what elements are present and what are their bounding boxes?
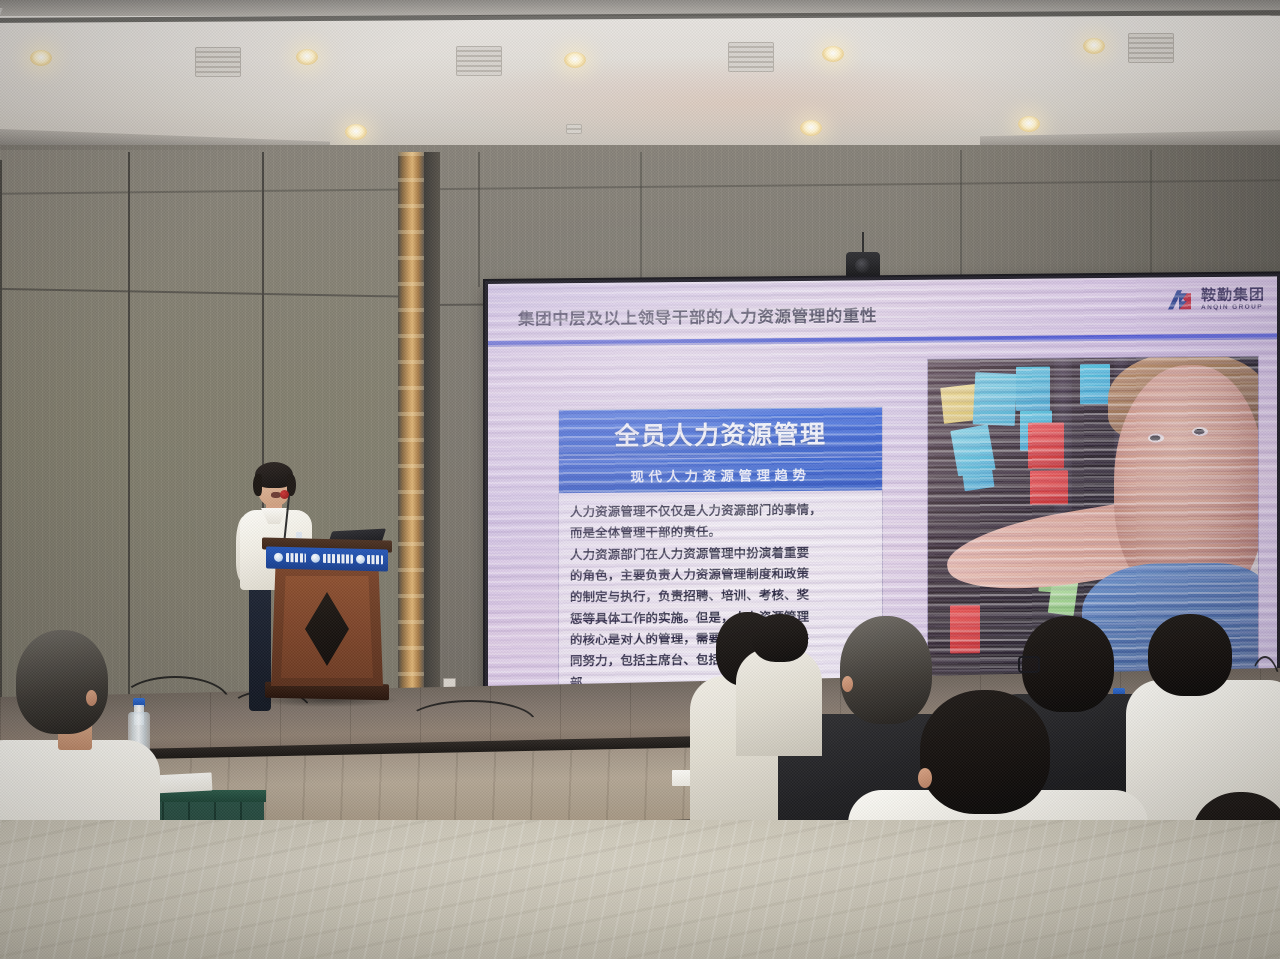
audience-person-ear (842, 676, 853, 692)
audience-person-head (840, 616, 932, 724)
audience-person-ear (86, 690, 97, 706)
audience-person-head (16, 630, 108, 734)
downlight-icon (345, 124, 367, 140)
air-vent-icon (195, 47, 241, 77)
sticky-note (960, 449, 995, 491)
podium-banner-logo-icon (311, 554, 320, 563)
sticky-note (1080, 364, 1110, 404)
speaker-badge (296, 532, 302, 538)
downlight-icon (1083, 38, 1105, 54)
slide-card-subheading: 现代人力资源管理趋势 (559, 457, 882, 493)
downlight-icon (296, 49, 318, 65)
stage-light-stem (862, 232, 864, 254)
wall-panel-seam (960, 150, 962, 282)
downlight-icon (564, 52, 586, 68)
sticky-note (950, 605, 980, 653)
downlight-icon (30, 50, 52, 66)
slide-header-title: 集团中层及以上领导干部的人力资源管理的重性 (518, 302, 877, 329)
logo-mark-icon (1165, 287, 1195, 313)
podium-banner-logo-icon (274, 553, 283, 562)
logo-text-cn: 鞍勤集团 (1201, 288, 1265, 304)
eyeglasses-icon (1018, 656, 1040, 673)
podium-banner-text (367, 555, 383, 564)
sticky-note (1028, 422, 1064, 468)
podium-banner (266, 547, 388, 572)
slide-body-line: 而是全体管理干部的责任。 (570, 521, 871, 545)
photo-person-eye (1148, 433, 1164, 442)
wall-panel-seam (478, 152, 480, 287)
audience-person-ear (918, 768, 932, 788)
slide-body-line: 人力资源部门在人力资源管理中扮演着重要 (570, 542, 871, 566)
moving-head-light-icon (846, 252, 880, 278)
wood-column (398, 152, 424, 712)
audience-person-head (920, 690, 1050, 814)
speaker-hair-side (253, 474, 262, 496)
carpet-pattern (0, 820, 1280, 959)
conference-photo-scene: 集团中层及以上领导干部的人力资源管理的重性 鞍勤集团 ANQIN GROUP (0, 0, 1280, 959)
slide-body-line: 人力资源管理不仅仅是人力资源部门的事情， (570, 499, 871, 523)
audience-person-torso (736, 648, 822, 756)
air-vent-icon (728, 42, 774, 72)
sticky-note (1030, 470, 1068, 504)
sticky-note (1016, 367, 1050, 411)
ceiling (0, 0, 1280, 150)
slide-card-header: 全员人力资源管理 (559, 407, 882, 460)
photo-person-eye (1192, 427, 1208, 436)
slide-card-heading: 全员人力资源管理 (559, 414, 882, 453)
wood-column-shadow (424, 152, 440, 712)
air-vent-icon (456, 46, 502, 76)
sticky-note (973, 372, 1018, 426)
logo-text-en: ANQIN GROUP (1201, 305, 1265, 312)
anqin-group-logo: 鞍勤集团 ANQIN GROUP (1165, 287, 1265, 314)
air-vent-icon (566, 124, 582, 134)
podium-banner-text (323, 554, 353, 564)
microphone-icon (280, 490, 289, 499)
carpet-floor (0, 820, 1280, 959)
wall-panel-seam (640, 152, 642, 284)
podium-banner-text (286, 553, 306, 562)
wall-panel-seam (1150, 150, 1152, 280)
podium-banner-logo-icon (356, 555, 365, 564)
downlight-icon (822, 46, 844, 62)
downlight-icon (1018, 116, 1040, 132)
audience-person-head (752, 614, 808, 662)
slide-body-line: 的制定与执行，负责招聘、培训、考核、奖 (570, 585, 871, 609)
audience-notebook (152, 772, 213, 793)
air-vent-icon (1128, 33, 1174, 63)
audience-person-head (1148, 614, 1232, 696)
slide-body-line: 的角色，主要负责人力资源管理制度和政策 (570, 563, 871, 587)
wall-panel-seam (0, 160, 2, 710)
wall-panel-seam (128, 152, 130, 718)
downlight-icon (800, 120, 822, 136)
logo-text: 鞍勤集团 ANQIN GROUP (1201, 288, 1265, 312)
